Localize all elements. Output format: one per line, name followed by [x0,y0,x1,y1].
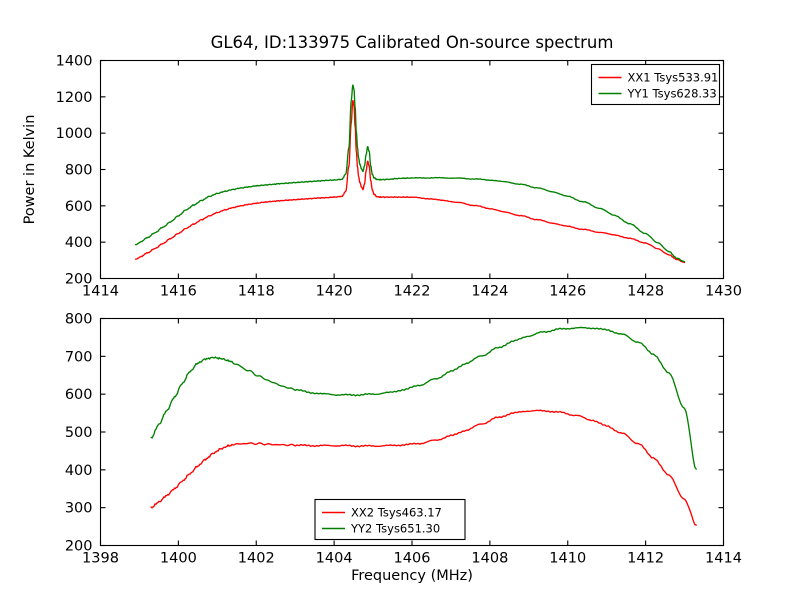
y-tick-label: 1400 [56,54,93,70]
y-tick-label: 1200 [56,90,93,106]
chart-title: GL64, ID:133975 Calibrated On-source spe… [211,33,614,52]
plot-canvas: 1414141614181420142214241426142814302004… [0,0,800,600]
y-tick-label: 200 [65,272,93,288]
y-tick-label: 500 [65,425,93,441]
x-tick-label: 1414 [705,551,742,567]
x-tick-label: 1400 [160,551,197,567]
x-tick-label: 1406 [394,551,431,567]
legend-label: YY1 Tsys628.33 [627,87,717,101]
x-tick-label: 1426 [549,284,586,300]
legend-label: XX1 Tsys533.91 [628,71,719,85]
x-tick-label: 1416 [160,284,197,300]
y-tick-label: 700 [65,349,93,365]
y-tick-label: 600 [65,387,93,403]
y-tick-label: 300 [65,501,93,517]
legend-top: XX1 Tsys533.91YY1 Tsys628.33 [592,65,720,105]
x-tick-label: 1430 [705,284,742,300]
x-tick-label: 1402 [238,551,275,567]
x-tick-label: 1412 [627,551,664,567]
series-line-yy1 [136,85,685,262]
series-line-yy2 [151,327,696,469]
y-tick-label: 200 [65,539,93,555]
legend-label: YY2 Tsys651.30 [350,522,440,536]
x-tick-label: 1418 [238,284,275,300]
x-axis-label: Frequency (MHz) [351,568,473,584]
x-tick-label: 1428 [627,284,664,300]
axes-panel-bottom: 1398140014021404140614081410141214142003… [65,312,742,567]
y-tick-label: 1000 [56,126,93,142]
y-tick-label: 400 [65,463,93,479]
y-tick-label: 400 [65,235,93,251]
x-tick-label: 1422 [394,284,431,300]
x-tick-label: 1404 [316,551,353,567]
x-tick-label: 1420 [316,284,353,300]
x-tick-label: 1410 [549,551,586,567]
legend-bottom: XX2 Tsys463.17YY2 Tsys651.30 [315,500,465,540]
y-axis-label: Power in Kelvin [22,115,38,225]
series-line-xx1 [136,101,685,263]
x-tick-label: 1408 [471,551,508,567]
y-tick-label: 600 [65,199,93,215]
axes-panel-top: 1414141614181420142214241426142814302004… [56,54,742,300]
matplotlib-figure: 1414141614181420142214241426142814302004… [0,0,800,600]
y-tick-label: 800 [65,312,93,328]
legend-label: XX2 Tsys463.17 [351,506,442,520]
x-tick-label: 1424 [471,284,508,300]
y-tick-label: 800 [65,163,93,179]
